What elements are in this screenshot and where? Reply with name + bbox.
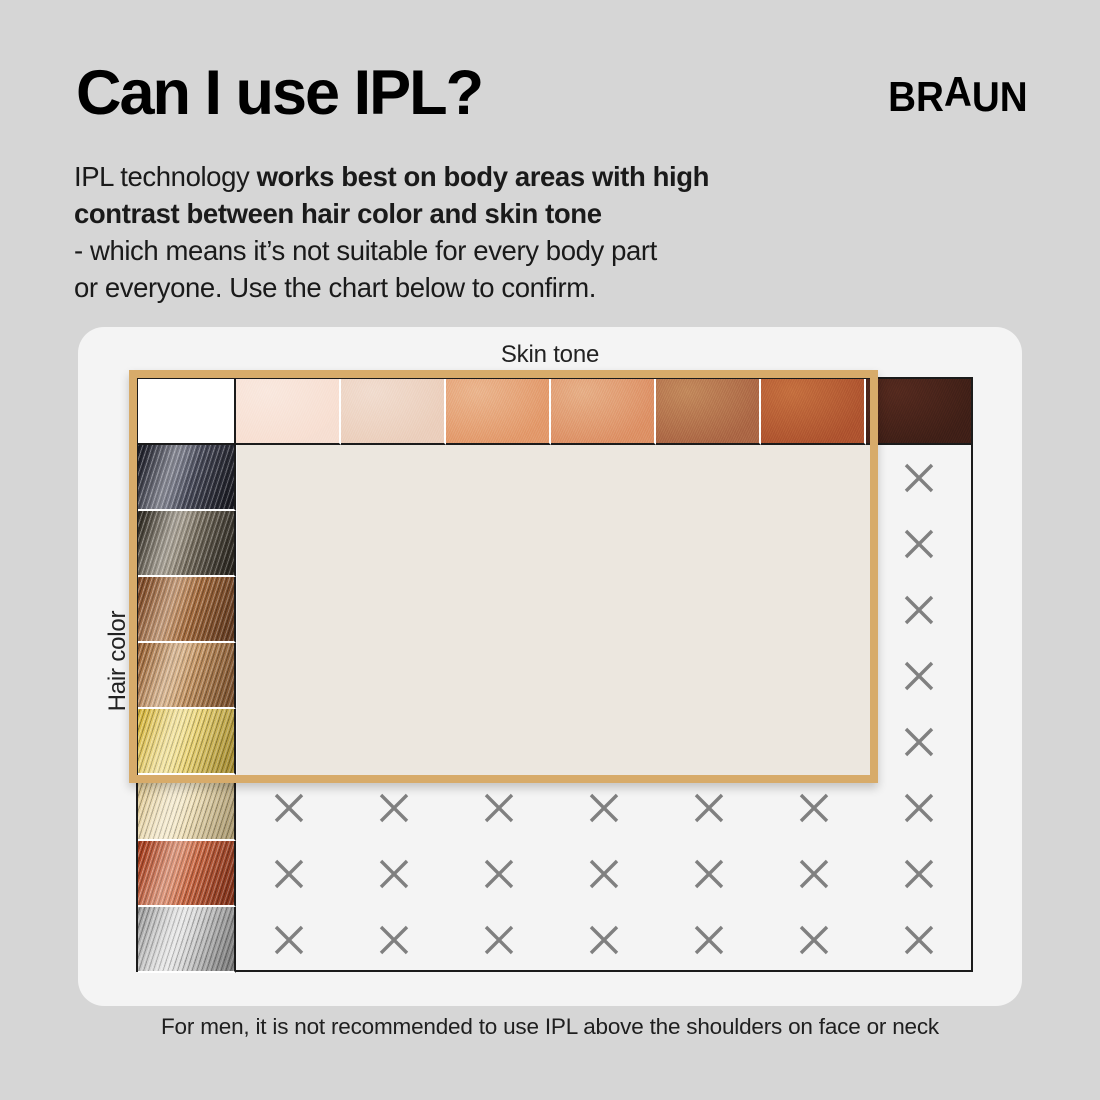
not-suitable-cross-icon-r8c2 xyxy=(341,907,446,973)
skin-tone-header-row xyxy=(138,379,971,445)
matrix-row xyxy=(138,445,971,511)
suitable-check-icon-r2c4 xyxy=(551,511,656,577)
hair-sheen-overlay xyxy=(138,709,234,773)
matrix-row xyxy=(138,907,971,973)
matrix-row xyxy=(138,577,971,643)
skin-tone-swatch-6 xyxy=(761,379,866,445)
suitable-check-icon-r2c3 xyxy=(446,511,551,577)
skin-texture-overlay xyxy=(341,379,444,443)
not-suitable-cross-icon-r8c6 xyxy=(761,907,866,973)
chart-card: Skin tone Hair color xyxy=(78,327,1022,1006)
hair-color-swatch-4 xyxy=(138,643,236,709)
not-suitable-cross-icon-r7c3 xyxy=(446,841,551,907)
suitable-check-icon-r2c6 xyxy=(761,511,866,577)
suitable-check-icon-r4c2 xyxy=(341,643,446,709)
subtitle-line2-bold: contrast between hair color and skin ton… xyxy=(74,198,602,229)
skin-tone-axis-label: Skin tone xyxy=(78,341,1022,369)
matrix-row xyxy=(138,775,971,841)
suitable-check-icon-r3c3 xyxy=(446,577,551,643)
not-suitable-cross-icon-r7c1 xyxy=(236,841,341,907)
subtitle-line1-bold: works best on body areas with high xyxy=(257,161,709,192)
hair-color-swatch-5 xyxy=(138,709,236,775)
footer-note: For men, it is not recommended to use IP… xyxy=(0,1014,1100,1040)
suitable-check-icon-r3c4 xyxy=(551,577,656,643)
suitable-check-icon-r4c1 xyxy=(236,643,341,709)
suitable-check-icon-r5c4 xyxy=(551,709,656,775)
subtitle-line3: - which means it’s not suitable for ever… xyxy=(74,235,657,266)
suitable-check-icon-r1c2 xyxy=(341,445,446,511)
not-suitable-cross-icon-r7c5 xyxy=(656,841,761,907)
braun-logo: BRAUN xyxy=(888,76,1028,118)
hair-sheen-overlay xyxy=(138,643,234,707)
skin-tone-swatch-2 xyxy=(341,379,446,445)
suitable-check-icon-r3c2 xyxy=(341,577,446,643)
not-suitable-cross-icon-r8c1 xyxy=(236,907,341,973)
skin-tone-swatch-4 xyxy=(551,379,656,445)
matrix-row xyxy=(138,709,971,775)
suitable-check-icon-r1c1 xyxy=(236,445,341,511)
suitable-check-icon-r3c5 xyxy=(656,577,761,643)
skin-tone-swatch-1 xyxy=(236,379,341,445)
suitable-check-icon-r4c3 xyxy=(446,643,551,709)
suitable-check-icon-r1c3 xyxy=(446,445,551,511)
suitable-check-icon-r1c6 xyxy=(761,445,866,511)
hair-sheen-overlay xyxy=(138,445,234,509)
not-suitable-cross-icon-r3c7 xyxy=(866,577,971,643)
suitable-check-icon-r4c5 xyxy=(656,643,761,709)
not-suitable-cross-icon-r5c7 xyxy=(866,709,971,775)
page-title: Can I use IPL? xyxy=(76,62,482,125)
hair-color-axis-label: Hair color xyxy=(104,561,132,761)
not-suitable-cross-icon-r6c6 xyxy=(761,775,866,841)
matrix-corner-cell xyxy=(138,379,236,445)
not-suitable-cross-icon-r6c4 xyxy=(551,775,656,841)
suitable-check-icon-r5c1 xyxy=(236,709,341,775)
suitable-check-icon-r5c6 xyxy=(761,709,866,775)
not-suitable-cross-icon-r8c5 xyxy=(656,907,761,973)
skin-texture-overlay xyxy=(761,379,864,443)
suitable-check-icon-r4c4 xyxy=(551,643,656,709)
skin-texture-overlay xyxy=(236,379,339,443)
skin-tone-swatch-3 xyxy=(446,379,551,445)
skin-texture-overlay xyxy=(866,379,971,443)
hair-color-swatch-8 xyxy=(138,907,236,973)
not-suitable-cross-icon-r4c7 xyxy=(866,643,971,709)
not-suitable-cross-icon-r6c2 xyxy=(341,775,446,841)
suitable-check-icon-r2c1 xyxy=(236,511,341,577)
hair-sheen-overlay xyxy=(138,775,234,839)
not-suitable-cross-icon-r6c7 xyxy=(866,775,971,841)
not-suitable-cross-icon-r7c2 xyxy=(341,841,446,907)
skin-tone-swatch-7 xyxy=(866,379,971,445)
hair-sheen-overlay xyxy=(138,511,234,575)
skin-texture-overlay xyxy=(446,379,549,443)
suitable-check-icon-r2c5 xyxy=(656,511,761,577)
suitable-check-icon-r2c2 xyxy=(341,511,446,577)
not-suitable-cross-icon-r8c3 xyxy=(446,907,551,973)
subtitle-line4: or everyone. Use the chart below to conf… xyxy=(74,272,596,303)
not-suitable-cross-icon-r8c7 xyxy=(866,907,971,973)
hair-color-swatch-1 xyxy=(138,445,236,511)
suitability-matrix xyxy=(136,377,973,972)
not-suitable-cross-icon-r7c7 xyxy=(866,841,971,907)
suitable-check-icon-r1c5 xyxy=(656,445,761,511)
subtitle: IPL technology works best on body areas … xyxy=(74,158,954,306)
braun-logo-post: UN xyxy=(972,76,1028,118)
matrix-row xyxy=(138,511,971,577)
hair-color-swatch-6 xyxy=(138,775,236,841)
hair-sheen-overlay xyxy=(138,907,234,971)
suitable-check-icon-r5c2 xyxy=(341,709,446,775)
braun-logo-pre: BR xyxy=(888,76,944,118)
suitable-check-icon-r3c1 xyxy=(236,577,341,643)
not-suitable-cross-icon-r6c5 xyxy=(656,775,761,841)
not-suitable-cross-icon-r6c3 xyxy=(446,775,551,841)
hair-color-swatch-3 xyxy=(138,577,236,643)
skin-texture-overlay xyxy=(656,379,759,443)
suitable-check-icon-r3c6 xyxy=(761,577,866,643)
braun-logo-a: A xyxy=(944,71,972,113)
hair-sheen-overlay xyxy=(138,841,234,905)
not-suitable-cross-icon-r6c1 xyxy=(236,775,341,841)
suitable-check-icon-r4c6 xyxy=(761,643,866,709)
skin-texture-overlay xyxy=(551,379,654,443)
suitable-check-icon-r1c4 xyxy=(551,445,656,511)
suitable-check-icon-r5c3 xyxy=(446,709,551,775)
skin-tone-swatch-5 xyxy=(656,379,761,445)
not-suitable-cross-icon-r8c4 xyxy=(551,907,656,973)
not-suitable-cross-icon-r7c6 xyxy=(761,841,866,907)
hair-color-swatch-7 xyxy=(138,841,236,907)
matrix-row xyxy=(138,841,971,907)
hair-sheen-overlay xyxy=(138,577,234,641)
not-suitable-cross-icon-r2c7 xyxy=(866,511,971,577)
matrix-row xyxy=(138,643,971,709)
suitable-check-icon-r5c5 xyxy=(656,709,761,775)
not-suitable-cross-icon-r7c4 xyxy=(551,841,656,907)
not-suitable-cross-icon-r1c7 xyxy=(866,445,971,511)
subtitle-line1-regular: IPL technology xyxy=(74,161,257,192)
hair-color-swatch-2 xyxy=(138,511,236,577)
